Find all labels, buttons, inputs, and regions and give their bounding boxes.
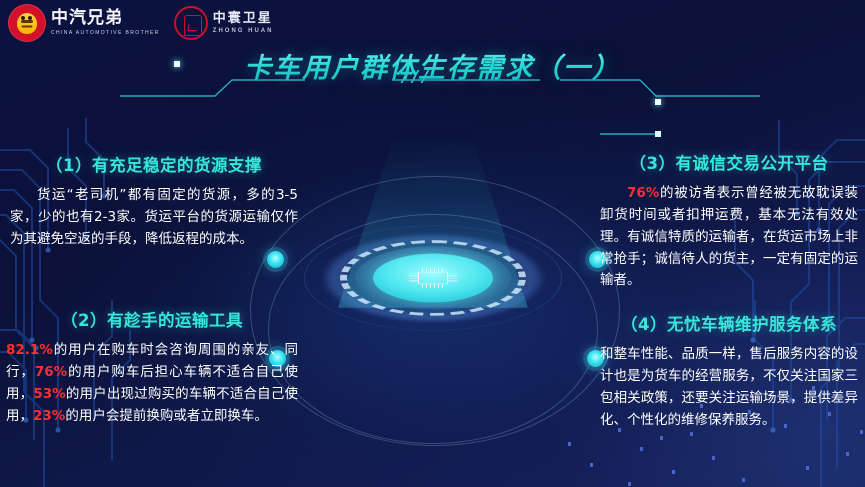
logo-china-automotive-brother: 中汽兄弟 CHINA AUTOMOTIVE BROTHER	[8, 4, 160, 42]
highlight-percentage: 76%	[35, 364, 67, 380]
logo2-cn-text: 中寰卫星	[213, 12, 274, 26]
bee-logo-icon	[8, 4, 46, 42]
content-block-3: （3）有诚信交易公开平台 76%的被访者表示曾经被无故耽误装卸货时间或者扣押运费…	[600, 150, 858, 292]
logo1-en-text: CHINA AUTOMOTIVE BROTHER	[51, 30, 160, 36]
title-banner: 卡车用户群体生存需求（一）	[0, 42, 865, 100]
slide-canvas: 中汽兄弟 CHINA AUTOMOTIVE BROTHER 中寰卫星 ZHONG…	[0, 0, 865, 487]
block-1-body: 货运“老司机”都有固定的货源，多的3-5家，少的也有2-3家。货运平台的货源运输…	[10, 185, 298, 251]
content-block-1: （1）有充足稳定的货源支撑 货运“老司机”都有固定的货源，多的3-5家，少的也有…	[10, 152, 298, 251]
highlight-percentage: 82.1%	[6, 342, 53, 358]
highlight-percentage: 76%	[627, 185, 659, 201]
title-decor-node-left	[174, 61, 180, 67]
logo-zhonghuan: 中寰卫星 ZHONG HUAN	[174, 6, 274, 40]
block-2-body: 82.1%的用户在购车时会咨询周围的亲友、同行，76%的用户购车后担心车辆不适合…	[6, 340, 298, 427]
cpu-chip-icon	[407, 267, 459, 288]
content-block-2: （2）有趁手的运输工具 82.1%的用户在购车时会咨询周围的亲友、同行，76%的…	[6, 307, 298, 427]
block-4-heading: （4）无忧车辆维护服务体系	[600, 311, 858, 335]
title-decor-lines	[0, 60, 865, 100]
connector-node-1	[267, 251, 284, 268]
block-1-heading: （1）有充足稳定的货源支撑	[10, 152, 298, 176]
highlight-percentage: 53%	[33, 386, 65, 402]
block-2-heading: （2）有趁手的运输工具	[6, 307, 298, 331]
content-block-4: （4）无忧车辆维护服务体系 和整车性能、品质一样，售后服务内容的设计也是为货车的…	[600, 311, 858, 431]
logo1-cn-text: 中汽兄弟	[51, 10, 160, 28]
block-4-body: 和整车性能、品质一样，售后服务内容的设计也是为货车的经营服务，不仅关注国家三包相…	[600, 344, 858, 431]
brand-logos: 中汽兄弟 CHINA AUTOMOTIVE BROTHER 中寰卫星 ZHONG…	[8, 4, 273, 42]
highlight-percentage: 23%	[33, 408, 65, 424]
block-3-heading: （3）有诚信交易公开平台	[600, 150, 858, 174]
seal-logo-icon	[174, 6, 208, 40]
hologram-chip-platform	[302, 150, 564, 405]
title-decor-node-right	[655, 99, 661, 105]
title-right-thin-line	[600, 124, 865, 144]
logo2-en-text: ZHONG HUAN	[213, 28, 274, 34]
block-3-body: 76%的被访者表示曾经被无故耽误装卸货时间或者扣押运费，基本无法有效处理。有诚信…	[600, 183, 858, 292]
